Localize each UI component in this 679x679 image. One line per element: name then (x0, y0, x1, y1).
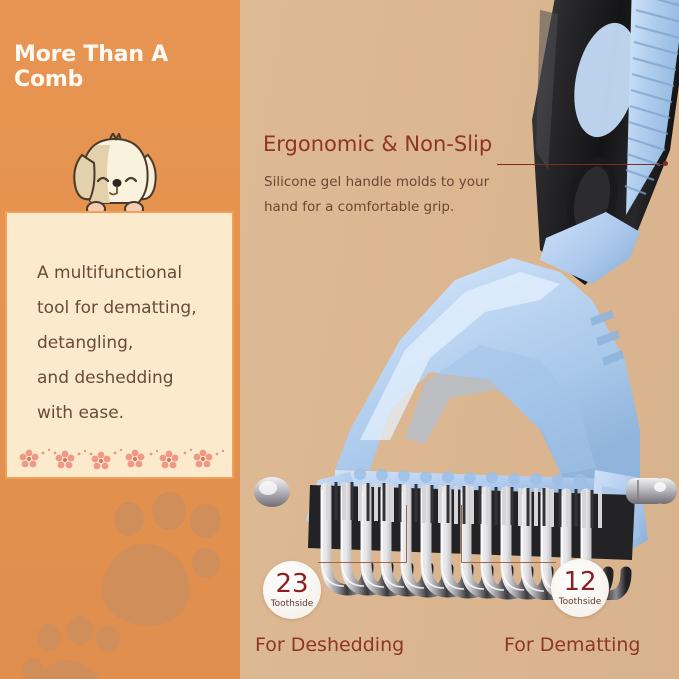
paw-toe (192, 548, 220, 578)
badge-number: 12 (563, 569, 596, 595)
callout-pointer-dot (663, 161, 668, 166)
paw-toe (22, 658, 44, 679)
end-cap-left (254, 477, 290, 507)
paw-toe (67, 616, 93, 645)
caption-dematting: For Dematting (504, 634, 640, 656)
callout-title: Ergonomic & Non-Slip (263, 132, 492, 156)
badge-dematting: 12 Toothside (551, 559, 609, 617)
badge-subtitle: Toothside (271, 599, 314, 609)
paw-toe (96, 626, 120, 652)
paw-pad (34, 660, 102, 679)
paw-toe (114, 502, 144, 536)
page-title: More Than A Comb (14, 42, 244, 92)
bracket-line-right-horizontal (461, 562, 556, 563)
paw-print-small-icon (22, 616, 122, 679)
bracket-line-right-vertical (461, 505, 462, 562)
paw-toe (152, 492, 186, 530)
dog-illustration-icon (62, 133, 168, 217)
paw-pad (102, 544, 190, 626)
bracket-line-left-horizontal (318, 562, 407, 563)
end-cap-right (626, 478, 677, 504)
left-info-panel: More Than A Comb (0, 0, 240, 679)
badge-number: 23 (275, 571, 308, 597)
flower-border-decoration (7, 441, 232, 477)
product-image-degroomer (240, 0, 679, 600)
callout-pointer-line (497, 164, 667, 165)
bracket-line-left-vertical (406, 505, 407, 562)
product-illustration (240, 0, 679, 600)
badge-subtitle: Toothside (559, 597, 602, 607)
badge-deshedding: 23 Toothside (263, 561, 321, 619)
caption-deshedding: For Deshedding (255, 634, 404, 656)
callout-body: Silicone gel handle molds to your hand f… (264, 170, 524, 220)
description-text: A multifunctional tool for dematting, de… (37, 256, 227, 431)
paw-print-large-icon (92, 492, 222, 632)
description-box: A multifunctional tool for dematting, de… (5, 211, 234, 479)
product-infographic: More Than A Comb (0, 0, 679, 679)
paw-toe (190, 504, 221, 538)
paw-toe (37, 624, 61, 651)
